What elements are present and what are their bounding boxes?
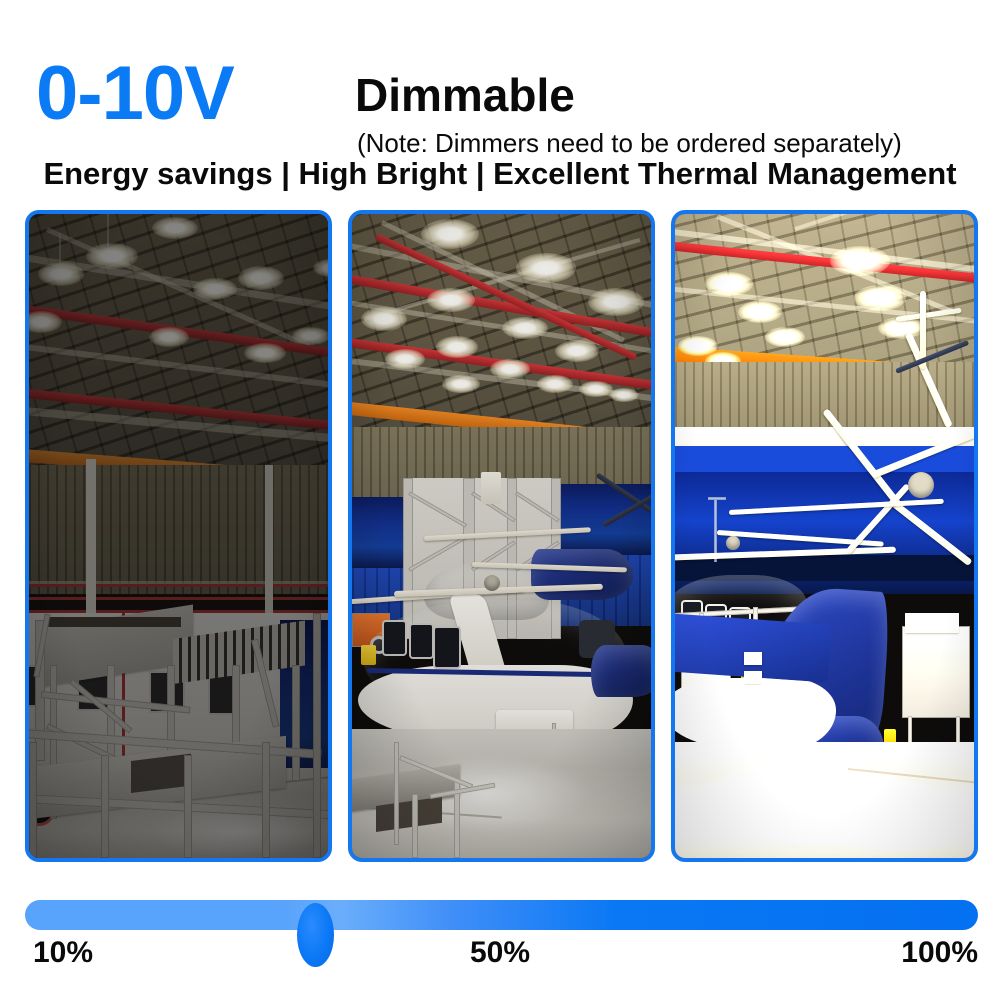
headline-row: 0-10V Dimmable (Note: Dimmers need to be… xyxy=(0,28,1000,138)
panel-low-brightness[interactable] xyxy=(25,210,332,862)
hangar-scene-dim xyxy=(29,214,328,858)
hangar-scene-bright xyxy=(675,214,974,858)
slider-scale-labels: 10% 50% 100% xyxy=(0,938,1000,984)
hangar-scene-mid xyxy=(352,214,651,858)
dimmer-note: (Note: Dimmers need to be ordered separa… xyxy=(357,130,902,156)
feature-tagline: Energy savings | High Bright | Excellent… xyxy=(0,158,1000,189)
brightness-comparison-gallery xyxy=(25,210,978,862)
panel-mid-brightness[interactable] xyxy=(348,210,655,862)
slider-label-max: 100% xyxy=(880,938,978,968)
dimming-level-slider[interactable]: 10% 50% 100% xyxy=(0,880,1000,1000)
panel-full-brightness[interactable] xyxy=(671,210,978,862)
slider-label-mid: 50% xyxy=(470,938,530,968)
slider-track[interactable] xyxy=(25,900,978,930)
feature-title: Dimmable xyxy=(355,72,575,118)
voltage-range-label: 0-10V xyxy=(36,56,234,132)
slider-label-min: 10% xyxy=(33,938,93,968)
header-banner: 0-10V Dimmable (Note: Dimmers need to be… xyxy=(0,0,1000,200)
